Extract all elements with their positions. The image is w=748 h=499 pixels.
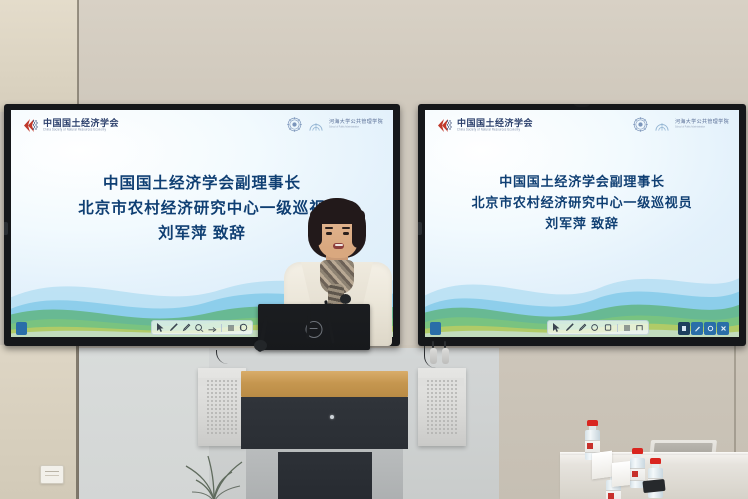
right-shape-tool-icon[interactable] [602,322,615,333]
right-university-arch-icon [654,118,670,132]
camera-icon [573,104,591,107]
right-pointer-button[interactable] [704,322,716,335]
podium-speaker-left-grill-icon [206,379,238,435]
right-annotate-button[interactable] [678,322,690,335]
podium-speaker-left [198,368,246,446]
institute-seal-icon [286,116,303,133]
podium-indicator-icon [330,415,334,419]
wall-seam-upper [77,0,79,112]
bottle-label [630,468,645,481]
desk-mic-pin-right [444,341,446,348]
right-institute-seal-icon [632,116,649,133]
right-capture-button[interactable] [691,322,703,335]
name-card [592,451,612,480]
annotation-toolbar[interactable] [151,320,253,335]
speaker-hair-left [310,210,322,246]
society-name-en: China Society of Natural Resources Econo… [43,129,119,132]
right-screen-surface: 中国国土经济学会 China Society of Natural Resour… [425,110,739,337]
right-display-screen[interactable]: 中国国土经济学会 China Society of Natural Resour… [418,104,746,346]
right-society-logo-mark-icon [437,118,453,133]
screen-side-sensor-icon [4,222,8,235]
wall-lower-left-panel [0,345,78,499]
society-logo-mark-icon [23,118,39,133]
wall-upper [0,0,748,112]
speaker-brow-left [325,227,333,229]
podium-base-column [278,452,372,499]
speaker-mouth [333,243,344,249]
podium-speaker-right-grill-icon [426,379,458,435]
speaker-eye-right [343,232,349,235]
right-screen-side-sensor-icon [418,222,422,235]
right-more-tool-icon[interactable] [633,322,646,333]
highlighter-tool-icon[interactable] [180,322,193,333]
right-slide-line-title: 中国国土经济学会副理事长 [499,171,665,192]
university-name-en: School of Public Administration [329,126,383,129]
toolbar-divider [221,324,222,332]
conference-room-photo: 中国国土经济学会 China Society of Natural Resour… [0,0,748,499]
right-toolbar-divider [617,324,618,332]
right-university-name-en: School of Public Administration [675,126,729,129]
right-society-name-en: China Society of Natural Resources Econo… [457,129,533,132]
list-tool-icon[interactable] [224,322,237,333]
right-slide-line-name: 刘军萍 致辞 [545,213,618,234]
right-screen-corner-menu-button[interactable] [430,322,441,335]
slide-line-name: 刘军萍 致辞 [158,221,246,246]
right-eraser-tool-icon[interactable] [589,322,602,333]
shape-tool-icon[interactable] [206,322,219,333]
right-highlighter-tool-icon[interactable] [576,322,589,333]
mobile-phone[interactable] [642,479,665,493]
bottle-label [606,490,621,499]
right-slide-text: 中国国土经济学会副理事长 北京市农村经济研究中心一级巡视员 刘军萍 致辞 [425,171,739,234]
right-slide-line-role: 北京市农村经济研究中心一级巡视员 [472,192,693,213]
university-name-cn: 河海大学公共管理学院 [329,120,383,125]
more-tool-icon[interactable] [237,322,250,333]
wall-seam-lower [76,345,79,499]
right-list-tool-icon[interactable] [620,322,633,333]
speaker-eye-left [326,232,332,235]
name-card [612,461,630,487]
speaker-hair-right [352,210,365,248]
bottle-label [585,440,600,453]
society-name-cn: 中国国土经济学会 [43,119,119,128]
podium-speaker-right [418,368,466,446]
podium-front-panel [241,397,408,449]
right-university-name-cn: 河海大学公共管理学院 [675,120,729,125]
microphone-head-left [254,340,267,351]
right-annotation-toolbar[interactable] [547,320,649,335]
wall-upper-left-panel [0,0,78,112]
podium-laptop[interactable] [258,304,370,350]
university-arch-icon [308,118,324,132]
wall-socket-icon [40,465,64,484]
right-society-name-cn: 中国国土经济学会 [457,119,533,128]
podium-wood-top [241,371,408,397]
right-slide: 中国国土经济学会 China Society of Natural Resour… [425,110,739,337]
speaker-brow-right [342,227,350,229]
right-partner-logos: 河海大学公共管理学院 School of Public Administrati… [632,116,729,133]
screen-corner-menu-button[interactable] [16,322,27,335]
partner-logos: 河海大学公共管理学院 School of Public Administrati… [286,116,383,133]
eraser-tool-icon[interactable] [193,322,206,333]
society-logo: 中国国土经济学会 China Society of Natural Resour… [23,118,119,133]
pen-tool-icon[interactable] [167,322,180,333]
right-society-logo: 中国国土经济学会 China Society of Natural Resour… [437,118,533,133]
right-clear-button[interactable] [717,322,729,335]
right-pen-tool-icon[interactable] [563,322,576,333]
cursor-tool-icon[interactable] [154,322,167,333]
slide-line-title: 中国国土经济学会副理事长 [103,171,301,196]
decorative-plant [168,448,258,499]
right-quick-action-buttons[interactable] [678,322,729,335]
desk-mic-stand-right [442,348,449,364]
microphone-head-right [340,294,351,304]
right-cursor-tool-icon[interactable] [550,322,563,333]
